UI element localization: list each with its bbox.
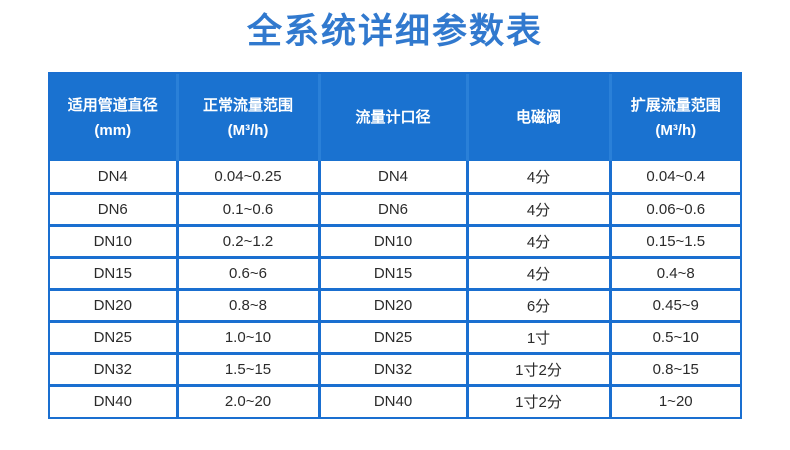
- column-header-extended-flow: 扩展流量范围 (M³/h): [610, 74, 740, 161]
- cell-pipe-diameter: DN32: [50, 353, 177, 385]
- column-header-extended-flow-line2: (M³/h): [614, 118, 739, 143]
- cell-meter-caliber: DN10: [319, 225, 467, 257]
- cell-solenoid-valve: 4分: [467, 225, 610, 257]
- table-row: DN100.2~1.2DN104分0.15~1.5: [50, 225, 740, 257]
- cell-normal-flow: 1.5~15: [177, 353, 319, 385]
- table-row: DN60.1~0.6DN64分0.06~0.6: [50, 193, 740, 225]
- cell-meter-caliber: DN32: [319, 353, 467, 385]
- cell-pipe-diameter: DN40: [50, 385, 177, 417]
- cell-meter-caliber: DN40: [319, 385, 467, 417]
- cell-pipe-diameter: DN20: [50, 289, 177, 321]
- cell-solenoid-valve: 1寸2分: [467, 353, 610, 385]
- cell-meter-caliber: DN20: [319, 289, 467, 321]
- column-header-normal-flow-line2: (M³/h): [181, 118, 316, 143]
- column-header-meter-caliber-line1: 流量计口径: [323, 105, 464, 130]
- table-row: DN402.0~20DN401寸2分1~20: [50, 385, 740, 417]
- column-header-solenoid-valve: 电磁阀: [467, 74, 610, 161]
- cell-normal-flow: 0.2~1.2: [177, 225, 319, 257]
- cell-solenoid-valve: 1寸: [467, 321, 610, 353]
- cell-extended-flow: 0.15~1.5: [610, 225, 740, 257]
- parameter-table-container: 适用管道直径 (mm) 正常流量范围 (M³/h) 流量计口径 电磁阀 扩展流量: [48, 72, 742, 419]
- cell-normal-flow: 0.04~0.25: [177, 161, 319, 193]
- column-header-normal-flow: 正常流量范围 (M³/h): [177, 74, 319, 161]
- cell-meter-caliber: DN25: [319, 321, 467, 353]
- table-row: DN251.0~10DN251寸0.5~10: [50, 321, 740, 353]
- cell-normal-flow: 0.6~6: [177, 257, 319, 289]
- cell-pipe-diameter: DN15: [50, 257, 177, 289]
- cell-solenoid-valve: 4分: [467, 161, 610, 193]
- cell-solenoid-valve: 4分: [467, 257, 610, 289]
- table-row: DN40.04~0.25DN44分0.04~0.4: [50, 161, 740, 193]
- table-row: DN150.6~6DN154分0.4~8: [50, 257, 740, 289]
- table-row: DN321.5~15DN321寸2分0.8~15: [50, 353, 740, 385]
- table-header: 适用管道直径 (mm) 正常流量范围 (M³/h) 流量计口径 电磁阀 扩展流量: [50, 74, 740, 161]
- table-header-row: 适用管道直径 (mm) 正常流量范围 (M³/h) 流量计口径 电磁阀 扩展流量: [50, 74, 740, 161]
- cell-meter-caliber: DN15: [319, 257, 467, 289]
- column-header-solenoid-valve-line1: 电磁阀: [471, 105, 607, 130]
- cell-extended-flow: 0.04~0.4: [610, 161, 740, 193]
- cell-normal-flow: 2.0~20: [177, 385, 319, 417]
- cell-pipe-diameter: DN4: [50, 161, 177, 193]
- cell-normal-flow: 1.0~10: [177, 321, 319, 353]
- cell-extended-flow: 0.8~15: [610, 353, 740, 385]
- cell-extended-flow: 0.45~9: [610, 289, 740, 321]
- cell-normal-flow: 0.8~8: [177, 289, 319, 321]
- cell-extended-flow: 1~20: [610, 385, 740, 417]
- cell-pipe-diameter: DN6: [50, 193, 177, 225]
- column-header-pipe-diameter: 适用管道直径 (mm): [50, 74, 177, 161]
- cell-pipe-diameter: DN10: [50, 225, 177, 257]
- table-row: DN200.8~8DN206分0.45~9: [50, 289, 740, 321]
- parameter-table-page: 全系统详细参数表 适用管道直径 (mm) 正常流量范围 (M³/h) 流量: [0, 0, 790, 450]
- cell-solenoid-valve: 1寸2分: [467, 385, 610, 417]
- cell-solenoid-valve: 4分: [467, 193, 610, 225]
- parameter-table: 适用管道直径 (mm) 正常流量范围 (M³/h) 流量计口径 电磁阀 扩展流量: [50, 74, 740, 417]
- column-header-extended-flow-line1: 扩展流量范围: [614, 93, 739, 118]
- column-header-meter-caliber: 流量计口径: [319, 74, 467, 161]
- cell-normal-flow: 0.1~0.6: [177, 193, 319, 225]
- column-header-normal-flow-line1: 正常流量范围: [181, 93, 316, 118]
- cell-pipe-diameter: DN25: [50, 321, 177, 353]
- column-header-pipe-diameter-line1: 适用管道直径: [52, 93, 174, 118]
- page-title: 全系统详细参数表: [0, 9, 790, 55]
- cell-extended-flow: 0.5~10: [610, 321, 740, 353]
- cell-meter-caliber: DN6: [319, 193, 467, 225]
- cell-solenoid-valve: 6分: [467, 289, 610, 321]
- cell-extended-flow: 0.4~8: [610, 257, 740, 289]
- table-body: DN40.04~0.25DN44分0.04~0.4DN60.1~0.6DN64分…: [50, 161, 740, 417]
- column-header-pipe-diameter-line2: (mm): [52, 118, 174, 143]
- cell-extended-flow: 0.06~0.6: [610, 193, 740, 225]
- cell-meter-caliber: DN4: [319, 161, 467, 193]
